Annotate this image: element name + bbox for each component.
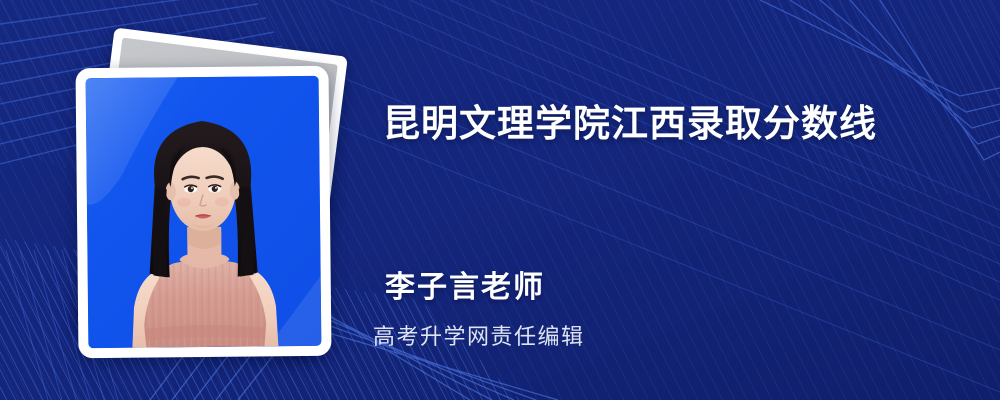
author-role: 高考升学网责任编辑 [373,322,585,352]
author-name: 李子言老师 [385,268,545,308]
editor-portrait-photo [86,76,322,348]
article-header-banner: 昆明文理学院江西录取分数线 李子言老师 高考升学网责任编辑 [0,0,1000,400]
page-title: 昆明文理学院江西录取分数线 [383,100,877,148]
photo-frame-stack [55,35,345,345]
photo-frame-front [75,66,331,359]
